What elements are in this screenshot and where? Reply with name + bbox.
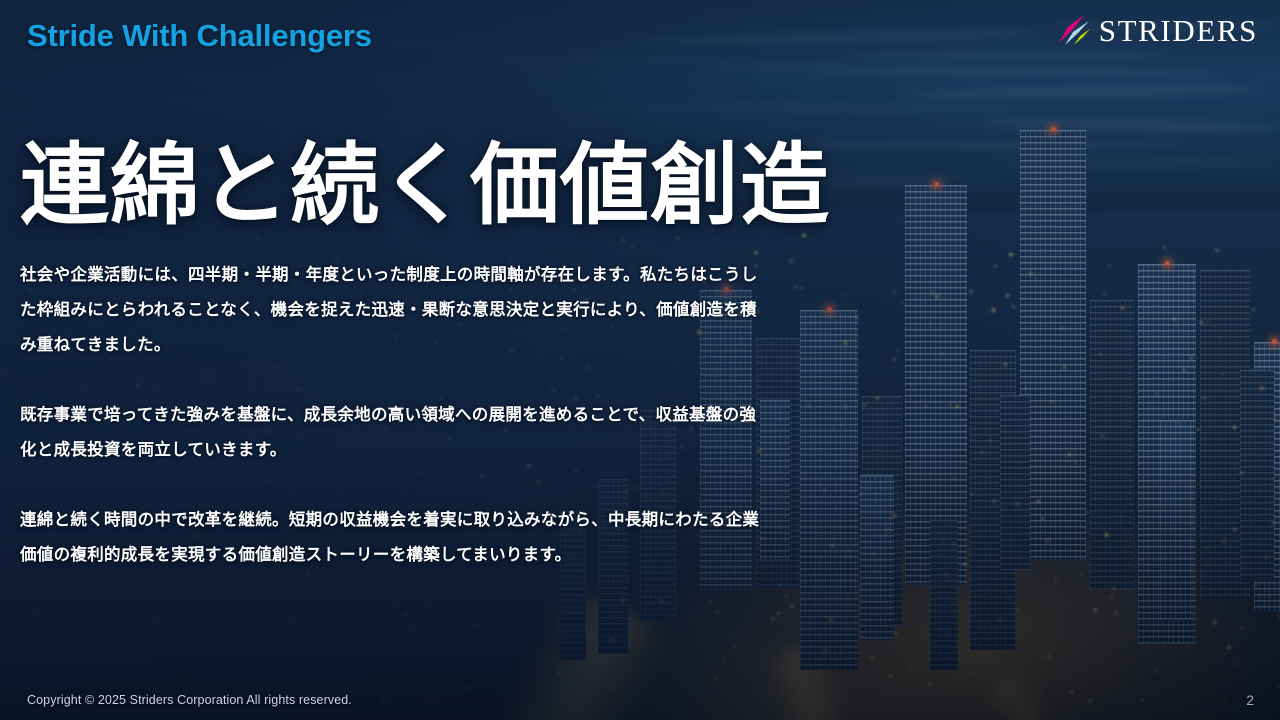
page-number: 2 <box>1246 692 1254 708</box>
striders-stripes-icon <box>1053 14 1091 46</box>
page-title: 連綿と続く価値創造 <box>20 138 830 232</box>
brand-name-text: STRIDERS <box>1099 15 1258 46</box>
presentation-slide: Stride With Challengers STRIDERS 連綿と続く価値… <box>0 0 1280 720</box>
copyright-notice: Copyright © 2025 Striders Corporation Al… <box>27 693 352 707</box>
body-copy: 社会や企業活動には、四半期・半期・年度といった制度上の時間軸が存在します。私たち… <box>20 258 760 573</box>
paragraph: 既存事業で培ってきた強みを基盤に、成長余地の高い領域への展開を進めることで、収益… <box>20 398 760 468</box>
slide-content: Stride With Challengers STRIDERS 連綿と続く価値… <box>0 0 1280 720</box>
brand-logo: STRIDERS <box>1053 14 1258 46</box>
paragraph: 社会や企業活動には、四半期・半期・年度といった制度上の時間軸が存在します。私たち… <box>20 258 760 363</box>
slide-eyebrow-tagline: Stride With Challengers <box>27 18 372 54</box>
paragraph: 連綿と続く時間の中で改革を継続。短期の収益機会を着実に取り込みながら、中長期にわ… <box>20 503 760 573</box>
